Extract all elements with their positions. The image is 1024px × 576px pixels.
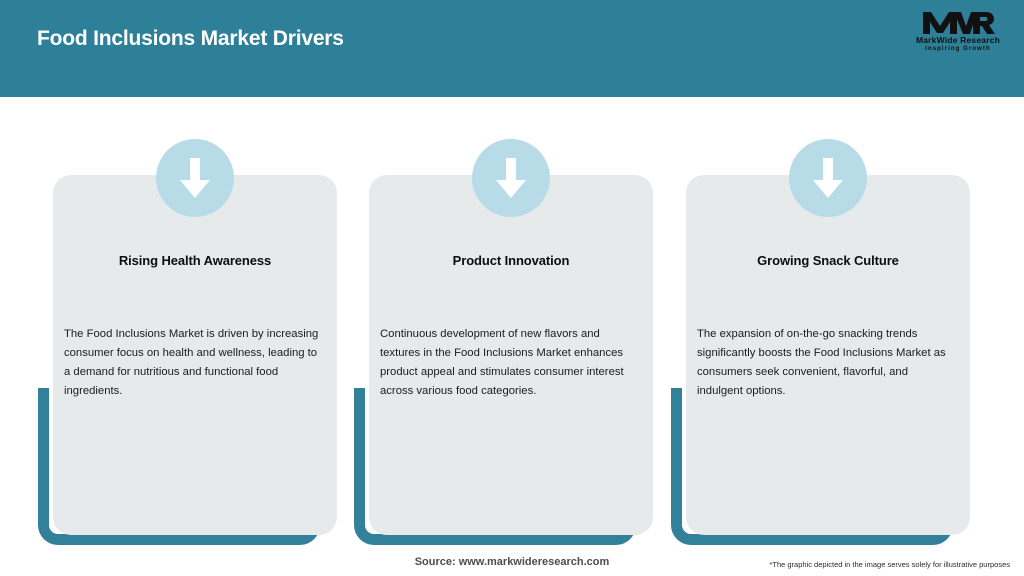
arrow-down-icon: [789, 139, 867, 217]
driver-card-1[interactable]: Rising Health Awareness The Food Inclusi…: [53, 175, 337, 535]
driver-card-2[interactable]: Product Innovation Continuous developmen…: [369, 175, 653, 535]
disclaimer-label: *The graphic depicted in the image serve…: [769, 560, 1010, 569]
driver-card-3[interactable]: Growing Snack Culture The expansion of o…: [686, 175, 970, 535]
driver-card-body: Continuous development of new flavors an…: [380, 325, 639, 401]
driver-card-body: The Food Inclusions Market is driven by …: [64, 325, 323, 401]
arrow-down-icon: [472, 139, 550, 217]
driver-card-title: Growing Snack Culture: [696, 253, 960, 268]
driver-card-slot-3: Growing Snack Culture The expansion of o…: [654, 0, 970, 576]
driver-card-slot-2: Product Innovation Continuous developmen…: [337, 0, 653, 576]
driver-card-title: Rising Health Awareness: [63, 253, 327, 268]
infographic-page: Food Inclusions Market Drivers MarkWide …: [0, 0, 1024, 576]
driver-card-slot-1: Rising Health Awareness The Food Inclusi…: [21, 0, 337, 576]
driver-card-title: Product Innovation: [379, 253, 643, 268]
arrow-down-icon: [156, 139, 234, 217]
driver-card-body: The expansion of on-the-go snacking tren…: [697, 325, 956, 401]
